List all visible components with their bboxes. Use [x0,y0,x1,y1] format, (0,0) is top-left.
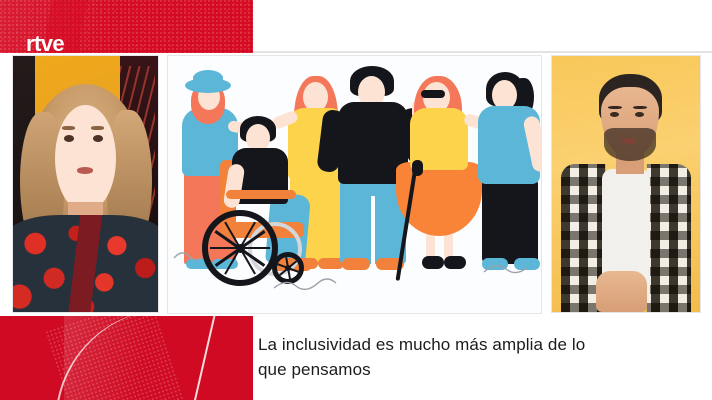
presenter-eyebrow-left [62,126,75,130]
man-shoe-left [342,258,370,270]
presenter-face [55,105,116,213]
wheel-hub [285,265,291,271]
rtve-logo: rtve [26,33,64,53]
rtve-brand-block: rtve [0,0,253,53]
wheel-hub [236,244,245,253]
cane-grip [412,160,423,176]
guest-eyebrow-left [608,106,621,109]
bottom-red-band [0,316,253,400]
ponytail-woman-pants [482,178,538,264]
guest-eyebrow-right [633,106,646,109]
brand-arc-decoration [46,0,253,53]
caption-text: La inclusividad es mucho más amplia de l… [258,332,678,382]
guest-beard [604,128,656,161]
spoke [210,247,270,249]
header-divider [253,51,712,53]
wheelchair-armrest [226,190,296,199]
guest-hands [596,271,646,312]
left-video-panel[interactable] [12,55,159,313]
wheelchair-wheel-large [202,210,278,286]
ponytail-woman-shoe-right [514,258,540,270]
caption-line-1: La inclusividad es mucho más amplia de l… [258,335,585,354]
ponytail-woman-shoe-left [482,258,508,270]
sunglasses-icon [421,90,445,98]
cane-woman-shoe-left [422,256,444,269]
right-video-panel[interactable] [551,55,701,313]
guest-eye-left [610,112,619,117]
caption-area: La inclusividad es mucho más amplia de l… [253,316,712,400]
broadcast-screen: rtve [0,0,712,400]
presenter-eye-right [93,135,103,142]
illustration-panel[interactable] [167,55,542,314]
man-pants-gap [371,196,375,264]
guest-mouth [622,138,637,143]
cane-woman-shoe-right [444,256,466,269]
inclusivity-illustration [168,56,541,313]
hat-woman-hat-brim [185,78,231,93]
presenter-lips [77,167,93,173]
wheelchair-wheel-small [272,252,304,284]
presenter-eyebrow-right [91,126,104,130]
presenter-eye-left [64,135,74,142]
caption-line-2: que pensamos [258,360,371,379]
